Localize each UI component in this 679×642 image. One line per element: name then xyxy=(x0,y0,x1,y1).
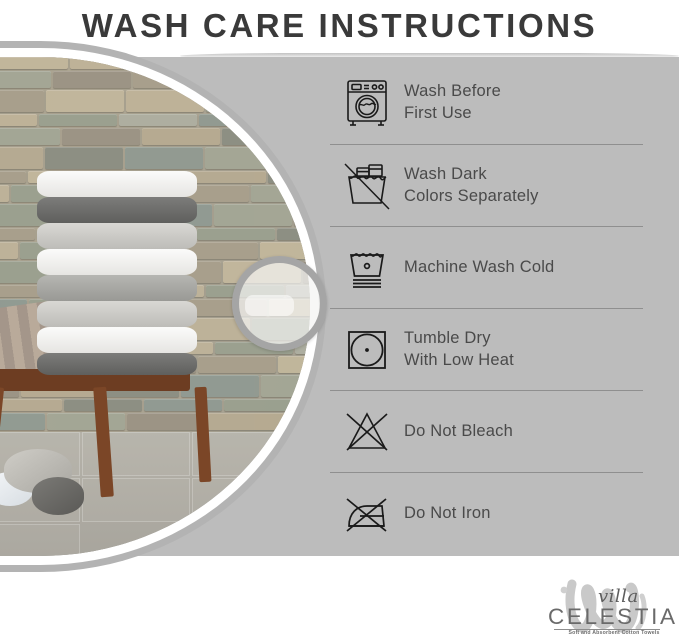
stone-brick xyxy=(0,228,35,240)
instruction-label: Do Not Iron xyxy=(404,503,491,525)
instruction-list: Wash Before First Use Wash Dark Colors S… xyxy=(330,62,643,554)
do-not-iron-icon xyxy=(330,491,404,537)
stone-brick xyxy=(0,114,37,126)
stone-brick xyxy=(286,90,310,112)
stone-brick xyxy=(181,375,259,397)
stone-brick xyxy=(207,413,285,430)
stone-brick xyxy=(45,147,123,169)
folded-towel xyxy=(37,275,197,301)
page-title: WASH CARE INSTRUCTIONS xyxy=(82,7,598,45)
floor-tile xyxy=(0,524,80,556)
tumble-dry-low-icon xyxy=(330,326,404,374)
stone-brick xyxy=(0,185,9,202)
stone-brick xyxy=(304,399,310,411)
stone-brick xyxy=(46,90,124,112)
instruction-label: Tumble Dry With Low Heat xyxy=(404,328,514,372)
stone-brick xyxy=(293,71,310,88)
stone-brick xyxy=(197,228,275,240)
stone-brick xyxy=(205,147,283,169)
instruction-line: Machine Wash Cold xyxy=(404,257,554,279)
instruction-line: Do Not Iron xyxy=(404,503,491,525)
stone-brick xyxy=(213,71,291,88)
instruction-row: Machine Wash Cold xyxy=(330,226,643,308)
floor-tile xyxy=(192,478,300,522)
instruction-line: Do Not Bleach xyxy=(404,421,513,443)
folded-towel xyxy=(37,301,197,327)
instruction-line: First Use xyxy=(404,103,501,125)
stone-brick xyxy=(70,57,148,69)
instruction-label: Wash Before First Use xyxy=(404,81,501,125)
stone-brick xyxy=(0,413,45,430)
stone-brick xyxy=(119,114,197,126)
stone-brick xyxy=(142,128,220,145)
instruction-line: With Low Heat xyxy=(404,350,514,372)
rolled-towel xyxy=(32,477,84,515)
stone-brick xyxy=(224,399,302,411)
stone-brick xyxy=(144,399,222,411)
stone-brick xyxy=(279,114,310,126)
floor-tile xyxy=(82,478,190,522)
stone-brick xyxy=(285,147,310,169)
machine-wash-cold-icon xyxy=(330,244,404,292)
instruction-row: Wash Before First Use xyxy=(330,62,643,144)
do-not-bleach-icon xyxy=(330,408,404,456)
stone-brick xyxy=(127,413,205,430)
stone-brick xyxy=(0,147,43,169)
stone-brick xyxy=(53,71,131,88)
folded-towel xyxy=(37,327,197,353)
stone-brick xyxy=(0,71,51,88)
instruction-row: Do Not Iron xyxy=(330,472,643,554)
stone-brick xyxy=(278,356,310,373)
stone-brick xyxy=(150,57,228,69)
stone-brick xyxy=(0,57,68,69)
stone-brick xyxy=(188,171,266,183)
stone-brick xyxy=(206,90,284,112)
stone-brick xyxy=(0,128,60,145)
instruction-label: Machine Wash Cold xyxy=(404,257,554,279)
stone-brick xyxy=(251,185,310,202)
washing-machine-icon xyxy=(330,78,404,128)
wash-separately-icon xyxy=(330,161,404,211)
stone-brick xyxy=(222,128,300,145)
stone-brick xyxy=(0,171,26,183)
stone-brick xyxy=(62,128,140,145)
folded-towel xyxy=(37,197,197,223)
stone-brick xyxy=(199,114,277,126)
stone-brick xyxy=(0,399,62,411)
folded-towel xyxy=(37,223,197,249)
towel-texture-magnifier xyxy=(232,256,327,351)
stone-brick xyxy=(268,171,310,183)
instruction-line: Tumble Dry xyxy=(404,328,514,350)
folded-towel xyxy=(37,353,197,375)
stone-brick xyxy=(198,356,276,373)
stone-brick xyxy=(0,242,18,259)
stone-brick xyxy=(230,57,308,69)
stone-brick xyxy=(47,413,125,430)
folded-towel xyxy=(37,171,197,197)
stone-brick xyxy=(214,204,292,226)
instruction-row: Do Not Bleach xyxy=(330,390,643,472)
brand-logo: villa CELESTIA Soft and Absorbent Cotton… xyxy=(542,566,674,640)
instruction-label: Wash Dark Colors Separately xyxy=(404,164,539,208)
stone-brick xyxy=(39,114,117,126)
instruction-line: Wash Before xyxy=(404,81,501,103)
instruction-row: Tumble Dry With Low Heat xyxy=(330,308,643,390)
instruction-row: Wash Dark Colors Separately xyxy=(330,144,643,226)
instruction-label: Do Not Bleach xyxy=(404,421,513,443)
stone-brick xyxy=(277,228,310,240)
logo-tagline: Soft and Absorbent Cotton Towels xyxy=(558,630,670,636)
header: WASH CARE INSTRUCTIONS xyxy=(0,0,679,52)
stone-brick xyxy=(302,128,310,145)
stone-brick xyxy=(0,90,44,112)
stone-brick xyxy=(261,375,310,397)
instruction-line: Wash Dark xyxy=(404,164,539,186)
stone-brick xyxy=(294,204,310,226)
folded-towel xyxy=(37,249,197,275)
stone-brick xyxy=(287,413,310,430)
stone-brick xyxy=(126,90,204,112)
instruction-line: Colors Separately xyxy=(404,186,539,208)
stone-brick xyxy=(125,147,203,169)
logo-brand-name: CELESTIA xyxy=(548,604,678,630)
stone-brick xyxy=(133,71,211,88)
